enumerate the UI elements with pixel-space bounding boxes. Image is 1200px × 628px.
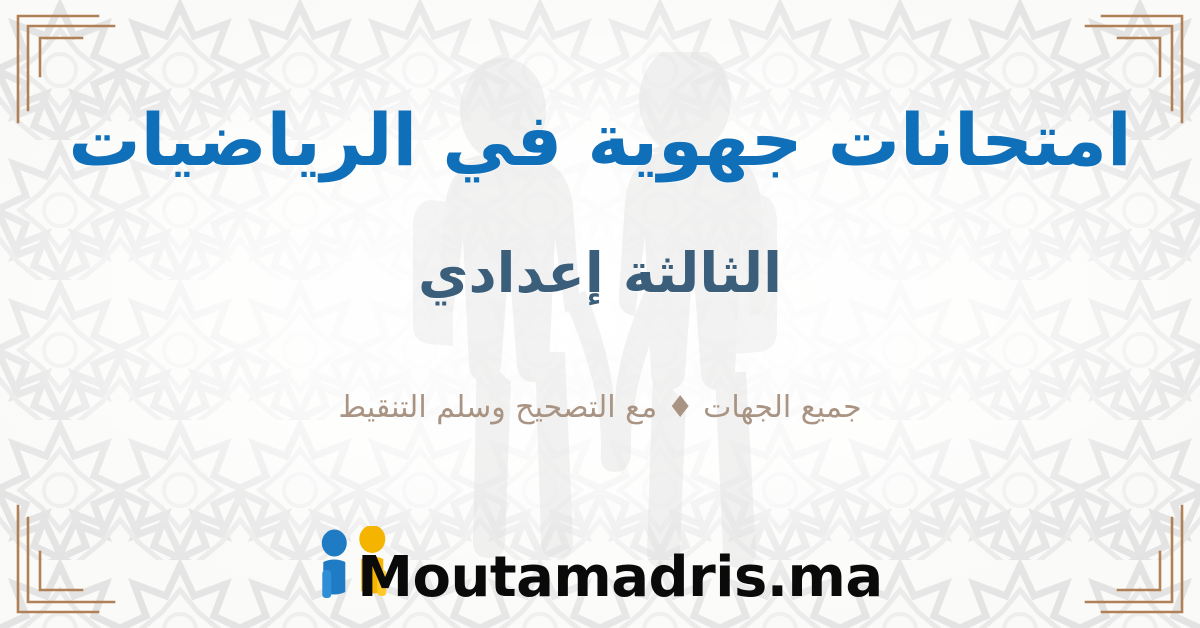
poster-canvas: امتحانات جهوية في الرياضيات الثالثة إعدا… (0, 0, 1200, 628)
page-title-line-1: امتحانات جهوية في الرياضيات (68, 104, 1131, 176)
page-title-line-2: الثالثة إعدادي (418, 246, 782, 301)
tagline-text: جميع الجهات ♦ مع التصحيح وسلم التنقيط (338, 393, 861, 423)
brand-name: Moutamadris.ma (357, 550, 882, 612)
brand-lockup[interactable]: Moutamadris.ma (317, 520, 882, 612)
